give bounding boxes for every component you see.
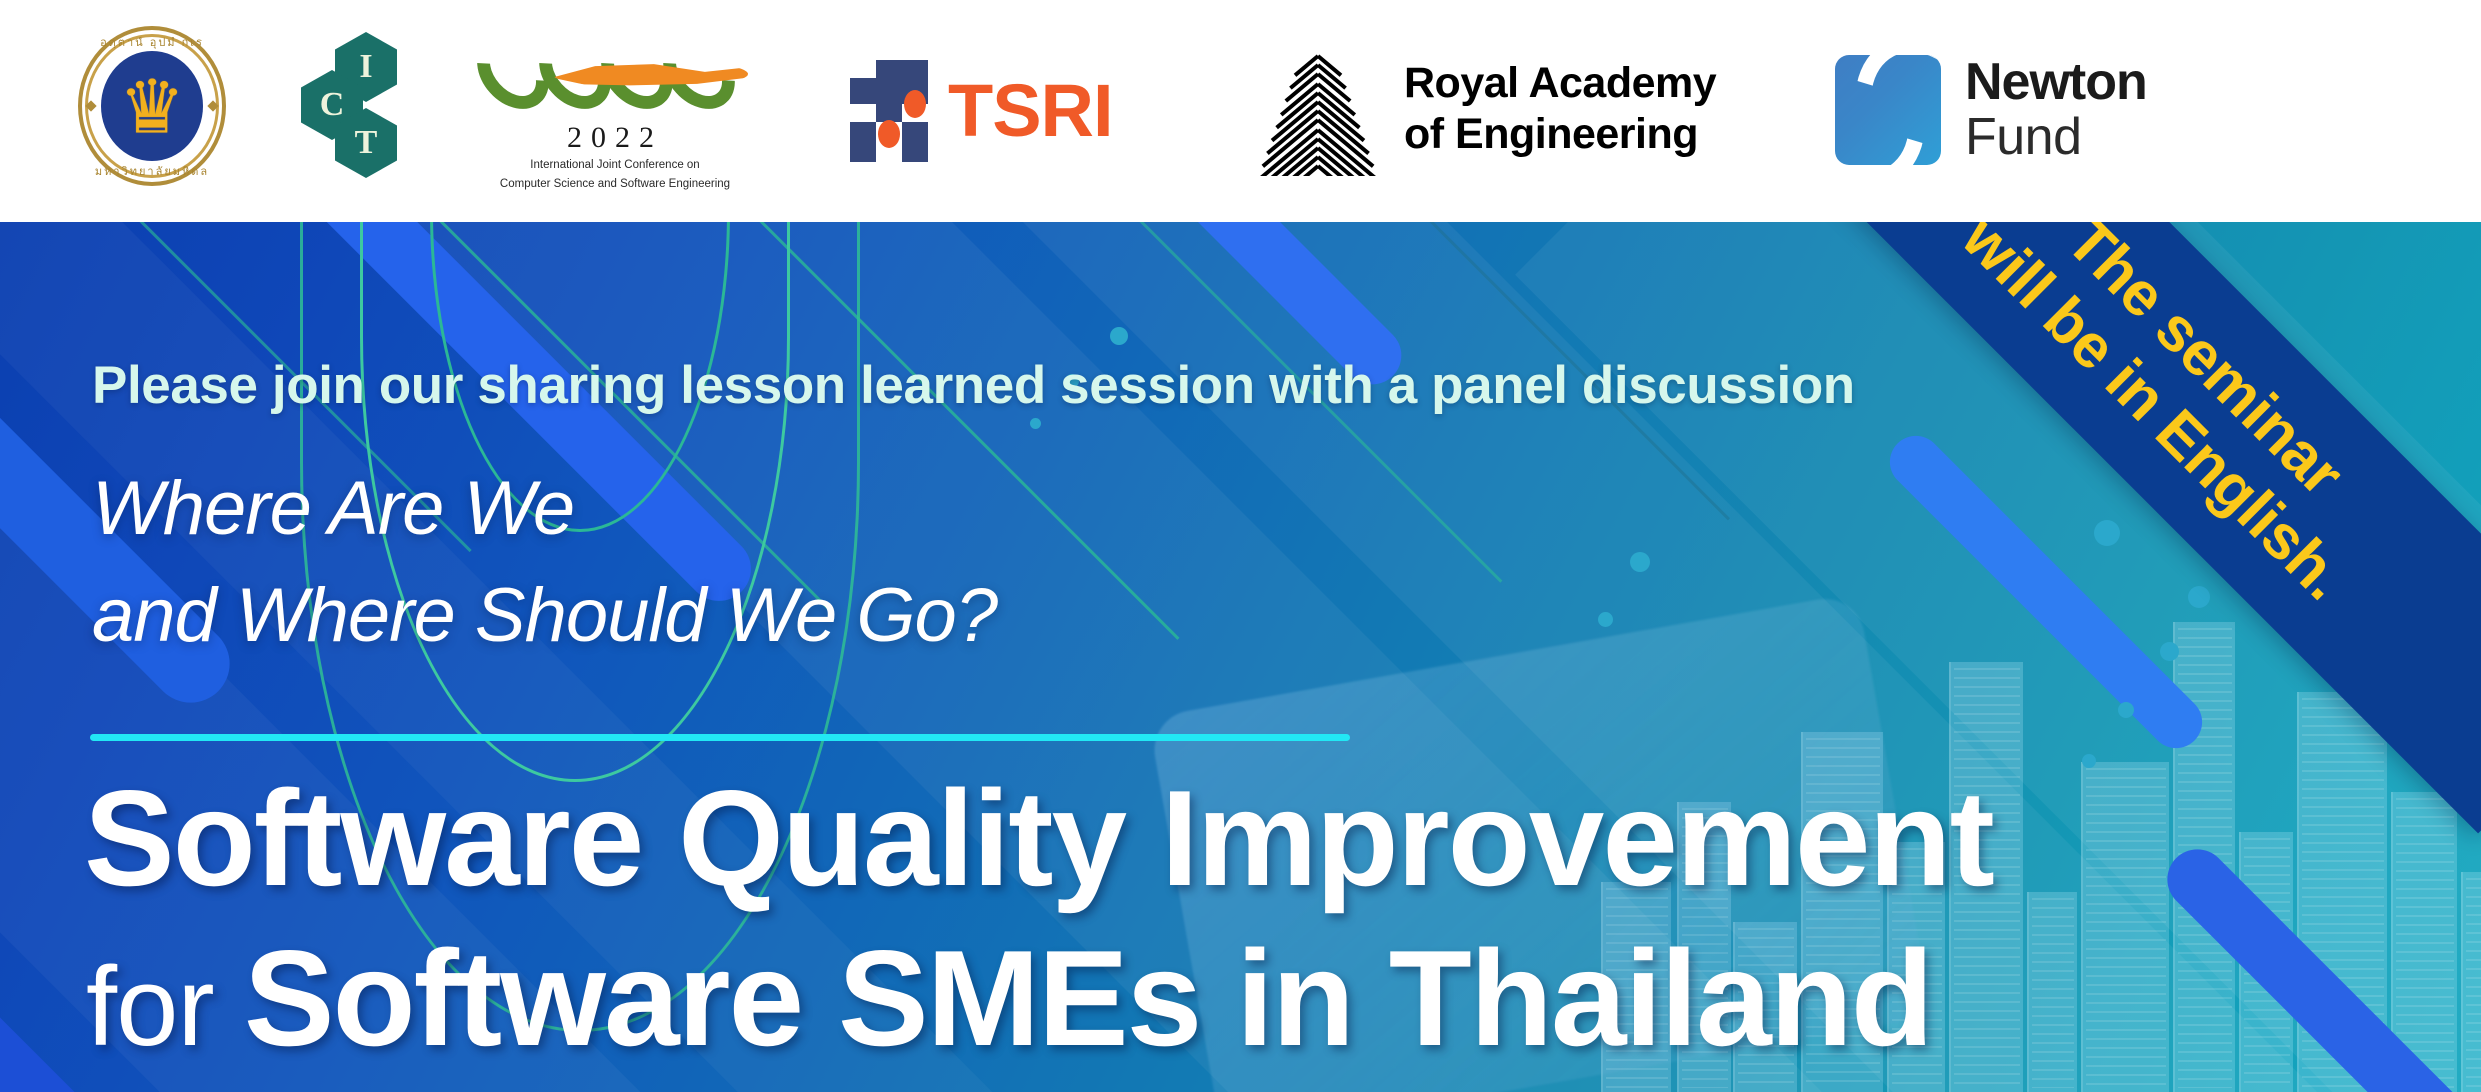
newton-line1: Newton <box>1965 55 2147 110</box>
ict-faculty-logo-icon: I C T <box>295 32 403 182</box>
decor-dot-7 <box>2118 702 2134 718</box>
decor-dot-1 <box>1110 327 1128 345</box>
tsri-logo-icon: TSRI <box>850 56 1160 166</box>
hero-headline-line1: Software Quality Improvement <box>84 770 1993 906</box>
jcsse-wordmark-graphic <box>480 27 750 119</box>
sponsor-logo-bar: อตฺตานํ อุปมํ กเร มหาวิทยาลัยมหิดล ♛ I C… <box>0 0 2481 222</box>
newton-fund-wordmark: Newton Fund <box>1965 55 2147 165</box>
royal-academy-of-engineering-logo-icon: Royal Academy of Engineering <box>1260 34 1780 184</box>
jcsse-subtitle-line1: International Joint Conference on <box>470 158 760 174</box>
newton-line2: Fund <box>1965 110 2147 165</box>
seal-crown-glyph: ♛ <box>119 70 185 144</box>
tsri-mark-graphic <box>850 60 932 162</box>
newton-fund-logo-icon: Newton Fund <box>1835 36 2255 184</box>
decor-dot-10 <box>1598 612 1613 627</box>
decor-dot-5 <box>2188 586 2210 608</box>
decor-dot-6 <box>2160 642 2179 661</box>
hero-subtitle-line1: Where Are We <box>92 465 574 552</box>
jcsse-subtitle-line2: Computer Science and Software Engineerin… <box>470 177 760 193</box>
hero-tagline: Please join our sharing lesson learned s… <box>92 355 1855 416</box>
hero-section: Please join our sharing lesson learned s… <box>0 222 2481 1092</box>
decor-dot-9 <box>1630 552 1650 572</box>
decor-dot-4 <box>2094 520 2120 546</box>
hero-headline-main: Software SMEs in Thailand <box>244 922 1932 1074</box>
jcsse-2022-logo-icon: 2022 International Joint Conference on C… <box>470 30 760 190</box>
rae-wordmark: Royal Academy of Engineering <box>1404 58 1716 159</box>
rae-line1: Royal Academy <box>1404 58 1716 109</box>
seal-thai-motto-top: อตฺตานํ อุปมํ กเร <box>78 33 226 51</box>
jcsse-year: 2022 <box>470 121 760 155</box>
hero-divider-rule <box>90 734 1350 741</box>
mahidol-university-seal-icon: อตฺตานํ อุปมํ กเร มหาวิทยาลัยมหิดล ♛ <box>78 26 226 186</box>
hero-subtitle-line2: and Where Should We Go? <box>92 572 997 659</box>
decor-dot-3 <box>1030 418 1041 429</box>
newton-fund-mark-graphic <box>1835 55 1941 165</box>
seal-thai-name-bottom: มหาวิทยาลัยมหิดล <box>78 162 226 180</box>
hero-headline-prefix: for <box>86 944 244 1069</box>
hero-headline-line2: for Software SMEs in Thailand <box>86 930 1932 1066</box>
seminar-banner: อตฺตานํ อุปมํ กเร มหาวิทยาลัยมหิดล ♛ I C… <box>0 0 2481 1092</box>
decor-dot-8 <box>2082 754 2096 768</box>
rae-line2: of Engineering <box>1404 109 1716 160</box>
tsri-wordmark: TSRI <box>948 74 1113 148</box>
rae-mark-graphic <box>1260 42 1378 176</box>
